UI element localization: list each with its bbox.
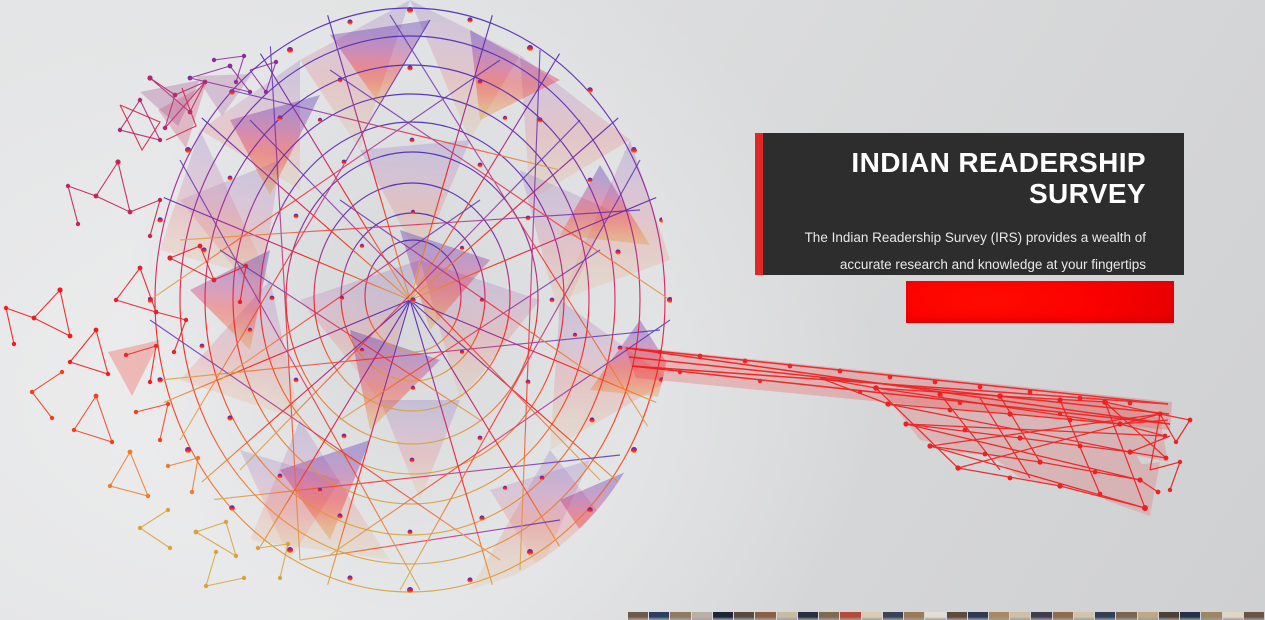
publication-cover[interactable] bbox=[1201, 612, 1221, 620]
publication-cover[interactable] bbox=[734, 612, 754, 620]
publication-cover[interactable] bbox=[904, 612, 924, 620]
page-subtitle-line-2: accurate research and knowledge at your … bbox=[840, 257, 1146, 272]
publication-cover[interactable] bbox=[713, 612, 733, 620]
publication-cover[interactable] bbox=[1138, 612, 1158, 620]
publication-cover[interactable] bbox=[692, 612, 712, 620]
page-title: INDIAN READERSHIP SURVEY bbox=[783, 147, 1146, 210]
publication-cover[interactable] bbox=[1095, 612, 1115, 620]
publication-cover[interactable] bbox=[755, 612, 775, 620]
hero-banner: INDIAN READERSHIP SURVEY The Indian Read… bbox=[0, 0, 1265, 620]
page-subtitle: The Indian Readership Survey (IRS) provi… bbox=[783, 224, 1146, 278]
publication-cover[interactable] bbox=[1159, 612, 1179, 620]
publication-cover[interactable] bbox=[819, 612, 839, 620]
publication-cover[interactable] bbox=[1010, 612, 1030, 620]
publication-cover[interactable] bbox=[947, 612, 967, 620]
page-subtitle-line-1: The Indian Readership Survey (IRS) provi… bbox=[805, 230, 1146, 245]
publication-cover[interactable] bbox=[1074, 612, 1094, 620]
publication-cover[interactable] bbox=[798, 612, 818, 620]
publication-cover[interactable] bbox=[925, 612, 945, 620]
publication-cover[interactable] bbox=[883, 612, 903, 620]
publication-cover[interactable] bbox=[862, 612, 882, 620]
publication-cover[interactable] bbox=[1116, 612, 1136, 620]
publication-cover[interactable] bbox=[777, 612, 797, 620]
publication-cover[interactable] bbox=[989, 612, 1009, 620]
publication-cover[interactable] bbox=[649, 612, 669, 620]
publication-cover[interactable] bbox=[670, 612, 690, 620]
publication-cover[interactable] bbox=[1223, 612, 1243, 620]
publication-cover[interactable] bbox=[628, 612, 648, 620]
publication-cover[interactable] bbox=[968, 612, 988, 620]
publication-cover[interactable] bbox=[840, 612, 860, 620]
hero-cta-button[interactable] bbox=[906, 281, 1174, 323]
publication-cover-carousel[interactable] bbox=[628, 612, 1265, 620]
publication-cover[interactable] bbox=[1180, 612, 1200, 620]
publication-cover[interactable] bbox=[1053, 612, 1073, 620]
hero-copy-panel: INDIAN READERSHIP SURVEY The Indian Read… bbox=[755, 133, 1184, 275]
publication-cover[interactable] bbox=[1244, 612, 1264, 620]
publication-cover[interactable] bbox=[1031, 612, 1051, 620]
